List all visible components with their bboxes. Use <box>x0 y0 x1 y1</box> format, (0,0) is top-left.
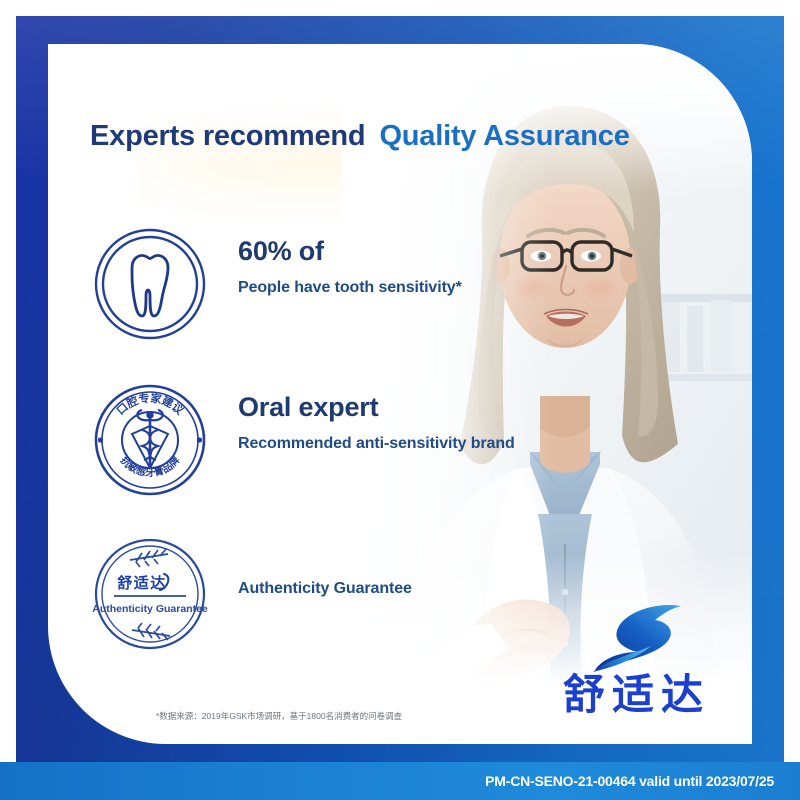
poster-root: Experts recommendQuality Assurance 60% o… <box>0 0 800 800</box>
benefit-row-oral-expert: 口腔专家建议 抗敏感牙膏品牌 Oral expert Recommended a… <box>92 382 515 498</box>
benefit-text-sensitivity: 60% of People have tooth sensitivity* <box>238 226 462 297</box>
benefit-subtitle: People have tooth sensitivity* <box>238 279 462 297</box>
photo-top-fade <box>342 44 752 194</box>
brand-lockup: 舒适达 <box>540 600 726 716</box>
page-title: Experts recommendQuality Assurance <box>90 120 630 153</box>
footnote-source: *数据来源：2019年GSK市场调研，基于1800名消费者的问卷调查 <box>156 710 402 722</box>
benefit-row-authenticity: 舒适达 Authenticity Guarantee Authenticity … <box>92 536 412 652</box>
tooth-circle-icon <box>92 226 208 342</box>
content-card: Experts recommendQuality Assurance 60% o… <box>48 44 752 744</box>
seal-caption-text: Authenticity Guarantee <box>92 603 208 615</box>
legal-bar: PM-CN-SENO-21-00464 valid until 2023/07/… <box>0 762 800 800</box>
benefit-title: 60% of <box>238 236 462 267</box>
sensodyne-swoosh-icon <box>563 600 703 678</box>
headline-accent: Quality Assurance <box>379 120 629 152</box>
benefit-subtitle: Recommended anti-sensitivity brand <box>238 435 515 453</box>
legal-code: PM-CN-SENO-21-00464 valid until 2023/07/… <box>485 773 800 789</box>
authenticity-seal-icon: 舒适达 Authenticity Guarantee <box>92 536 208 652</box>
benefit-row-sensitivity: 60% of People have tooth sensitivity* <box>92 226 462 342</box>
benefit-text-oral-expert: Oral expert Recommended anti-sensitivity… <box>238 382 515 453</box>
benefit-subtitle: Authenticity Guarantee <box>238 580 412 598</box>
benefit-title: Oral expert <box>238 392 515 423</box>
headline-lead: Experts recommend <box>90 120 365 152</box>
oral-expert-seal-icon: 口腔专家建议 抗敏感牙膏品牌 <box>92 382 208 498</box>
benefit-text-authenticity: Authenticity Guarantee <box>238 536 412 598</box>
brand-name: 舒适达 <box>540 674 726 716</box>
